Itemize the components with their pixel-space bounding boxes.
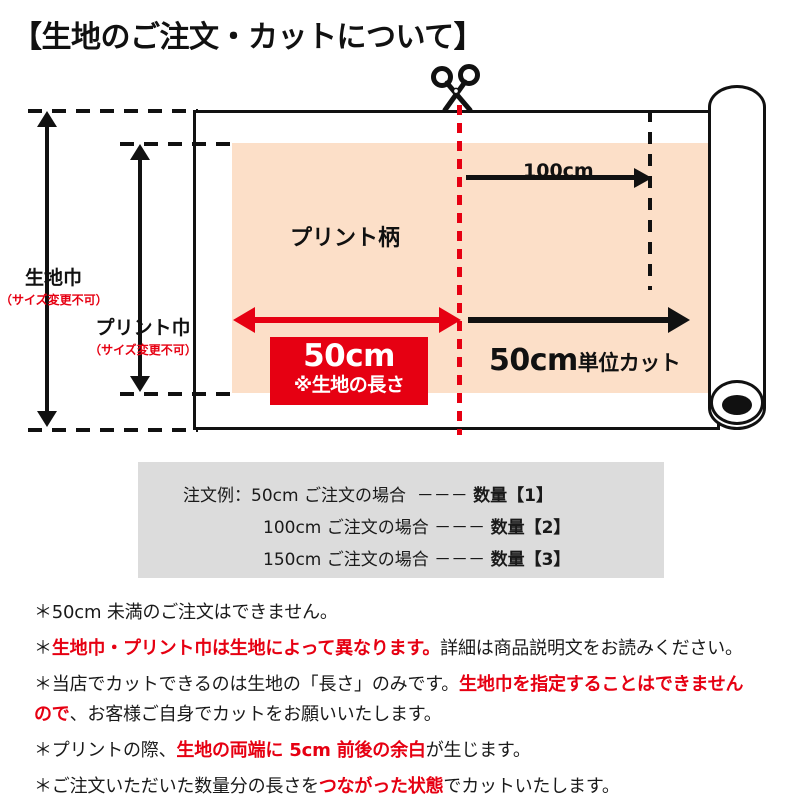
order-example-quantity: 数量【1】 <box>473 486 553 506</box>
dimension-arrow-100cm <box>466 168 652 188</box>
note-text-red: 生地巾を指定することはできません <box>459 674 743 695</box>
order-example-row: 注文例：50cm ご注文の場合 －－－ 数量【1】 <box>183 481 553 506</box>
length-callout-box: 50cm ※生地の長さ <box>270 337 428 405</box>
page-title: 【生地のご注文・カットについて】 <box>12 12 483 56</box>
length-callout-note: ※生地の長さ <box>270 373 428 397</box>
note-cut-length: ＊当店でカットできるのは生地の「長さ」のみです。生地巾を指定することはできません… <box>34 670 779 730</box>
notes-list: ＊50cm 未満のご注文はできません。 ＊生地巾・プリント巾は生地によって異なり… <box>34 598 779 808</box>
note-text-black: ＊当店でカットできるのは生地の「長さ」のみです。 <box>34 674 459 695</box>
unit-cut-value: 50cm <box>489 343 578 378</box>
order-example-row: 150cm ご注文の場合 －－－ 数量【3】 <box>263 545 570 570</box>
note-text-black-tail: でカットいたします。 <box>443 776 619 797</box>
note-text-black: ＊ご注文いただいた数量分の長さを <box>34 776 319 797</box>
unit-cut-suffix: 単位カット <box>578 351 681 375</box>
guide-line-print-bottom <box>120 392 240 396</box>
note-text-black: ＊ <box>34 638 52 659</box>
arrowhead-right-icon <box>439 307 461 333</box>
note-text-black-tail: 詳細は商品説明文をお読みください。 <box>440 638 743 659</box>
note-width-vary: ＊生地巾・プリント巾は生地によって異なります。詳細は商品説明文をお読みください。 <box>34 634 779 664</box>
order-example-separator: －－－ <box>434 550 485 570</box>
note-text-black: ＊50cm 未満のご注文はできません。 <box>34 602 338 623</box>
print-width-note: （サイズ変更不可） <box>78 341 208 358</box>
note-text-black-tail: が生じます。 <box>426 740 531 761</box>
unit-cut-caption: 50cm単位カット <box>489 343 680 378</box>
fabric-width-label: 生地巾 <box>0 263 107 290</box>
order-example-quantity: 数量【2】 <box>491 518 571 538</box>
note-text-red: つながった状態 <box>319 776 444 797</box>
print-pattern-label: プリント柄 <box>290 220 400 252</box>
order-example-length: 50cm ご注文の場合 <box>251 486 406 506</box>
order-example-quantity: 数量【3】 <box>491 550 571 570</box>
arrowhead-right-icon <box>634 168 652 188</box>
note-connected: ＊ご注文いただいた数量分の長さをつながった状態でカットいたします。 <box>34 772 779 802</box>
measure-marker-100cm <box>648 110 652 290</box>
order-example-separator: －－－ <box>434 518 485 538</box>
order-example-box: 注文例：50cm ご注文の場合 －－－ 数量【1】 100cm ご注文の場合 －… <box>138 462 664 578</box>
length-callout-value: 50cm <box>270 337 428 373</box>
note-text-red: 生地巾・プリント巾は生地によって異なります。 <box>52 638 440 659</box>
order-example-row: 100cm ご注文の場合 －－－ 数量【2】 <box>263 513 570 538</box>
arrowhead-down-icon <box>130 376 150 392</box>
note-text-black-line2: 、お客様ご自身でカットをお願いいたします。 <box>70 704 442 725</box>
order-example-length: 150cm ご注文の場合 <box>263 550 429 570</box>
note-min-order: ＊50cm 未満のご注文はできません。 <box>34 598 779 628</box>
note-text-red-line2: ので <box>34 704 70 725</box>
fabric-roll-core-hole-icon <box>722 395 752 415</box>
print-width-label-group: プリント巾 （サイズ変更不可） <box>78 313 208 358</box>
fabric-cutting-diagram: プリント柄 生地巾 （サイズ変更不可） プリント巾 <box>0 55 801 450</box>
order-example-separator: －－－ <box>417 486 468 506</box>
arrowhead-right-icon <box>668 307 690 333</box>
guide-line-fabric-bottom <box>28 428 198 432</box>
dimension-arrow-unit-cut <box>468 307 690 333</box>
dimension-arrow-50cm <box>233 307 461 333</box>
print-width-label: プリント巾 <box>78 313 208 340</box>
fabric-roll-icon <box>708 85 766 430</box>
cut-line-indicator <box>457 105 462 435</box>
order-example-length: 100cm ご注文の場合 <box>263 518 429 538</box>
arrow-shaft <box>466 175 638 180</box>
note-text-black: ＊プリントの際、 <box>34 740 176 761</box>
order-example-prefix: 注文例： <box>183 486 251 506</box>
note-margin: ＊プリントの際、生地の両端に 5cm 前後の余白が生じます。 <box>34 736 779 766</box>
arrow-shaft <box>251 317 443 323</box>
arrowhead-down-icon <box>37 411 57 427</box>
fabric-width-label-group: 生地巾 （サイズ変更不可） <box>0 263 107 308</box>
note-text-red: 生地の両端に 5cm 前後の余白 <box>176 740 425 761</box>
fabric-width-note: （サイズ変更不可） <box>0 291 107 308</box>
arrow-shaft <box>468 317 672 323</box>
